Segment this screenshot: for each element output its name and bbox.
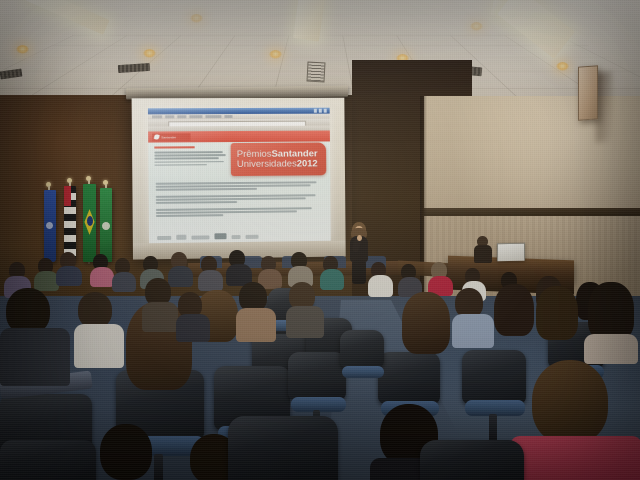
long-hair	[494, 284, 534, 336]
shoulders	[0, 328, 70, 386]
text-line	[156, 188, 257, 191]
text-line	[154, 164, 206, 166]
partner-logo	[157, 236, 171, 240]
moderator	[474, 236, 492, 262]
moderator-body	[474, 245, 492, 263]
banner-universidades: Universidades	[237, 158, 297, 169]
shoulders	[236, 308, 276, 342]
santander-logo: Santander	[152, 133, 190, 141]
text-line	[154, 158, 218, 160]
banner-year: 2012	[297, 158, 318, 169]
text-line	[156, 214, 224, 216]
shoulders	[142, 302, 178, 332]
long-hair	[536, 286, 578, 340]
web-page: Santander PrêmiosSantander Univer	[148, 131, 331, 244]
head	[532, 360, 608, 444]
head	[78, 292, 112, 328]
shoulders	[112, 272, 136, 292]
downlight	[16, 45, 29, 54]
partner-logo	[232, 235, 241, 239]
long-hair	[402, 292, 450, 354]
long-hair	[588, 282, 634, 340]
intro-rule	[154, 146, 194, 148]
wall-speaker-icon	[578, 65, 598, 120]
speaker-shadow	[596, 71, 612, 143]
prize-banner: PrêmiosSantander Universidades2012	[231, 142, 327, 176]
downlight	[190, 14, 203, 23]
presenter	[345, 222, 373, 284]
downlight	[470, 22, 483, 31]
downlight	[556, 62, 569, 71]
text-line	[154, 161, 223, 163]
sao-paulo-flag-canton	[64, 186, 71, 206]
presenter-hand	[357, 235, 362, 241]
intro-text-block	[154, 146, 227, 177]
projection-screen: Santander PrêmiosSantander Univer	[132, 98, 346, 260]
santander-flame-icon	[154, 134, 160, 140]
presenter-legs	[352, 260, 366, 284]
partner-logo	[214, 233, 226, 239]
shoulders	[584, 334, 638, 364]
laptop	[497, 243, 525, 261]
text-line	[156, 185, 310, 188]
secondary-flag-emblem	[102, 222, 110, 230]
shoulders	[320, 269, 344, 290]
institutional-flag-emblem	[46, 222, 53, 229]
text-line	[154, 154, 225, 156]
main-paragraph-block	[156, 181, 324, 218]
projected-image: Santander PrêmiosSantander Univer	[148, 108, 331, 244]
photo-scene: Santander PrêmiosSantander Univer	[0, 0, 640, 480]
shoulders	[510, 436, 640, 480]
shoulders	[286, 306, 324, 338]
shoulders	[368, 275, 393, 297]
downlight	[143, 49, 156, 58]
shoulders	[56, 266, 82, 286]
text-line	[156, 201, 237, 203]
shoulders	[176, 314, 210, 342]
brazil-flag-globe	[87, 216, 93, 226]
ceiling-projector-icon	[306, 62, 325, 83]
text-line	[156, 210, 297, 213]
partner-logo	[191, 235, 209, 239]
wall-trim-band	[424, 208, 640, 216]
shoulders	[452, 314, 494, 348]
text-line	[156, 197, 306, 200]
text-line	[154, 151, 222, 153]
shoulders	[90, 267, 114, 287]
partner-logos-row	[157, 233, 258, 240]
shoulders	[74, 324, 124, 368]
shoulders	[198, 270, 223, 291]
downlight	[269, 50, 282, 59]
partner-logo	[176, 235, 186, 240]
shoulders	[168, 266, 193, 287]
santander-wordmark: Santander	[161, 135, 176, 139]
head	[100, 424, 152, 480]
banner-line-2: Universidades2012	[237, 159, 326, 170]
page-body: PrêmiosSantander Universidades2012	[148, 141, 331, 243]
partner-logo	[245, 235, 258, 239]
